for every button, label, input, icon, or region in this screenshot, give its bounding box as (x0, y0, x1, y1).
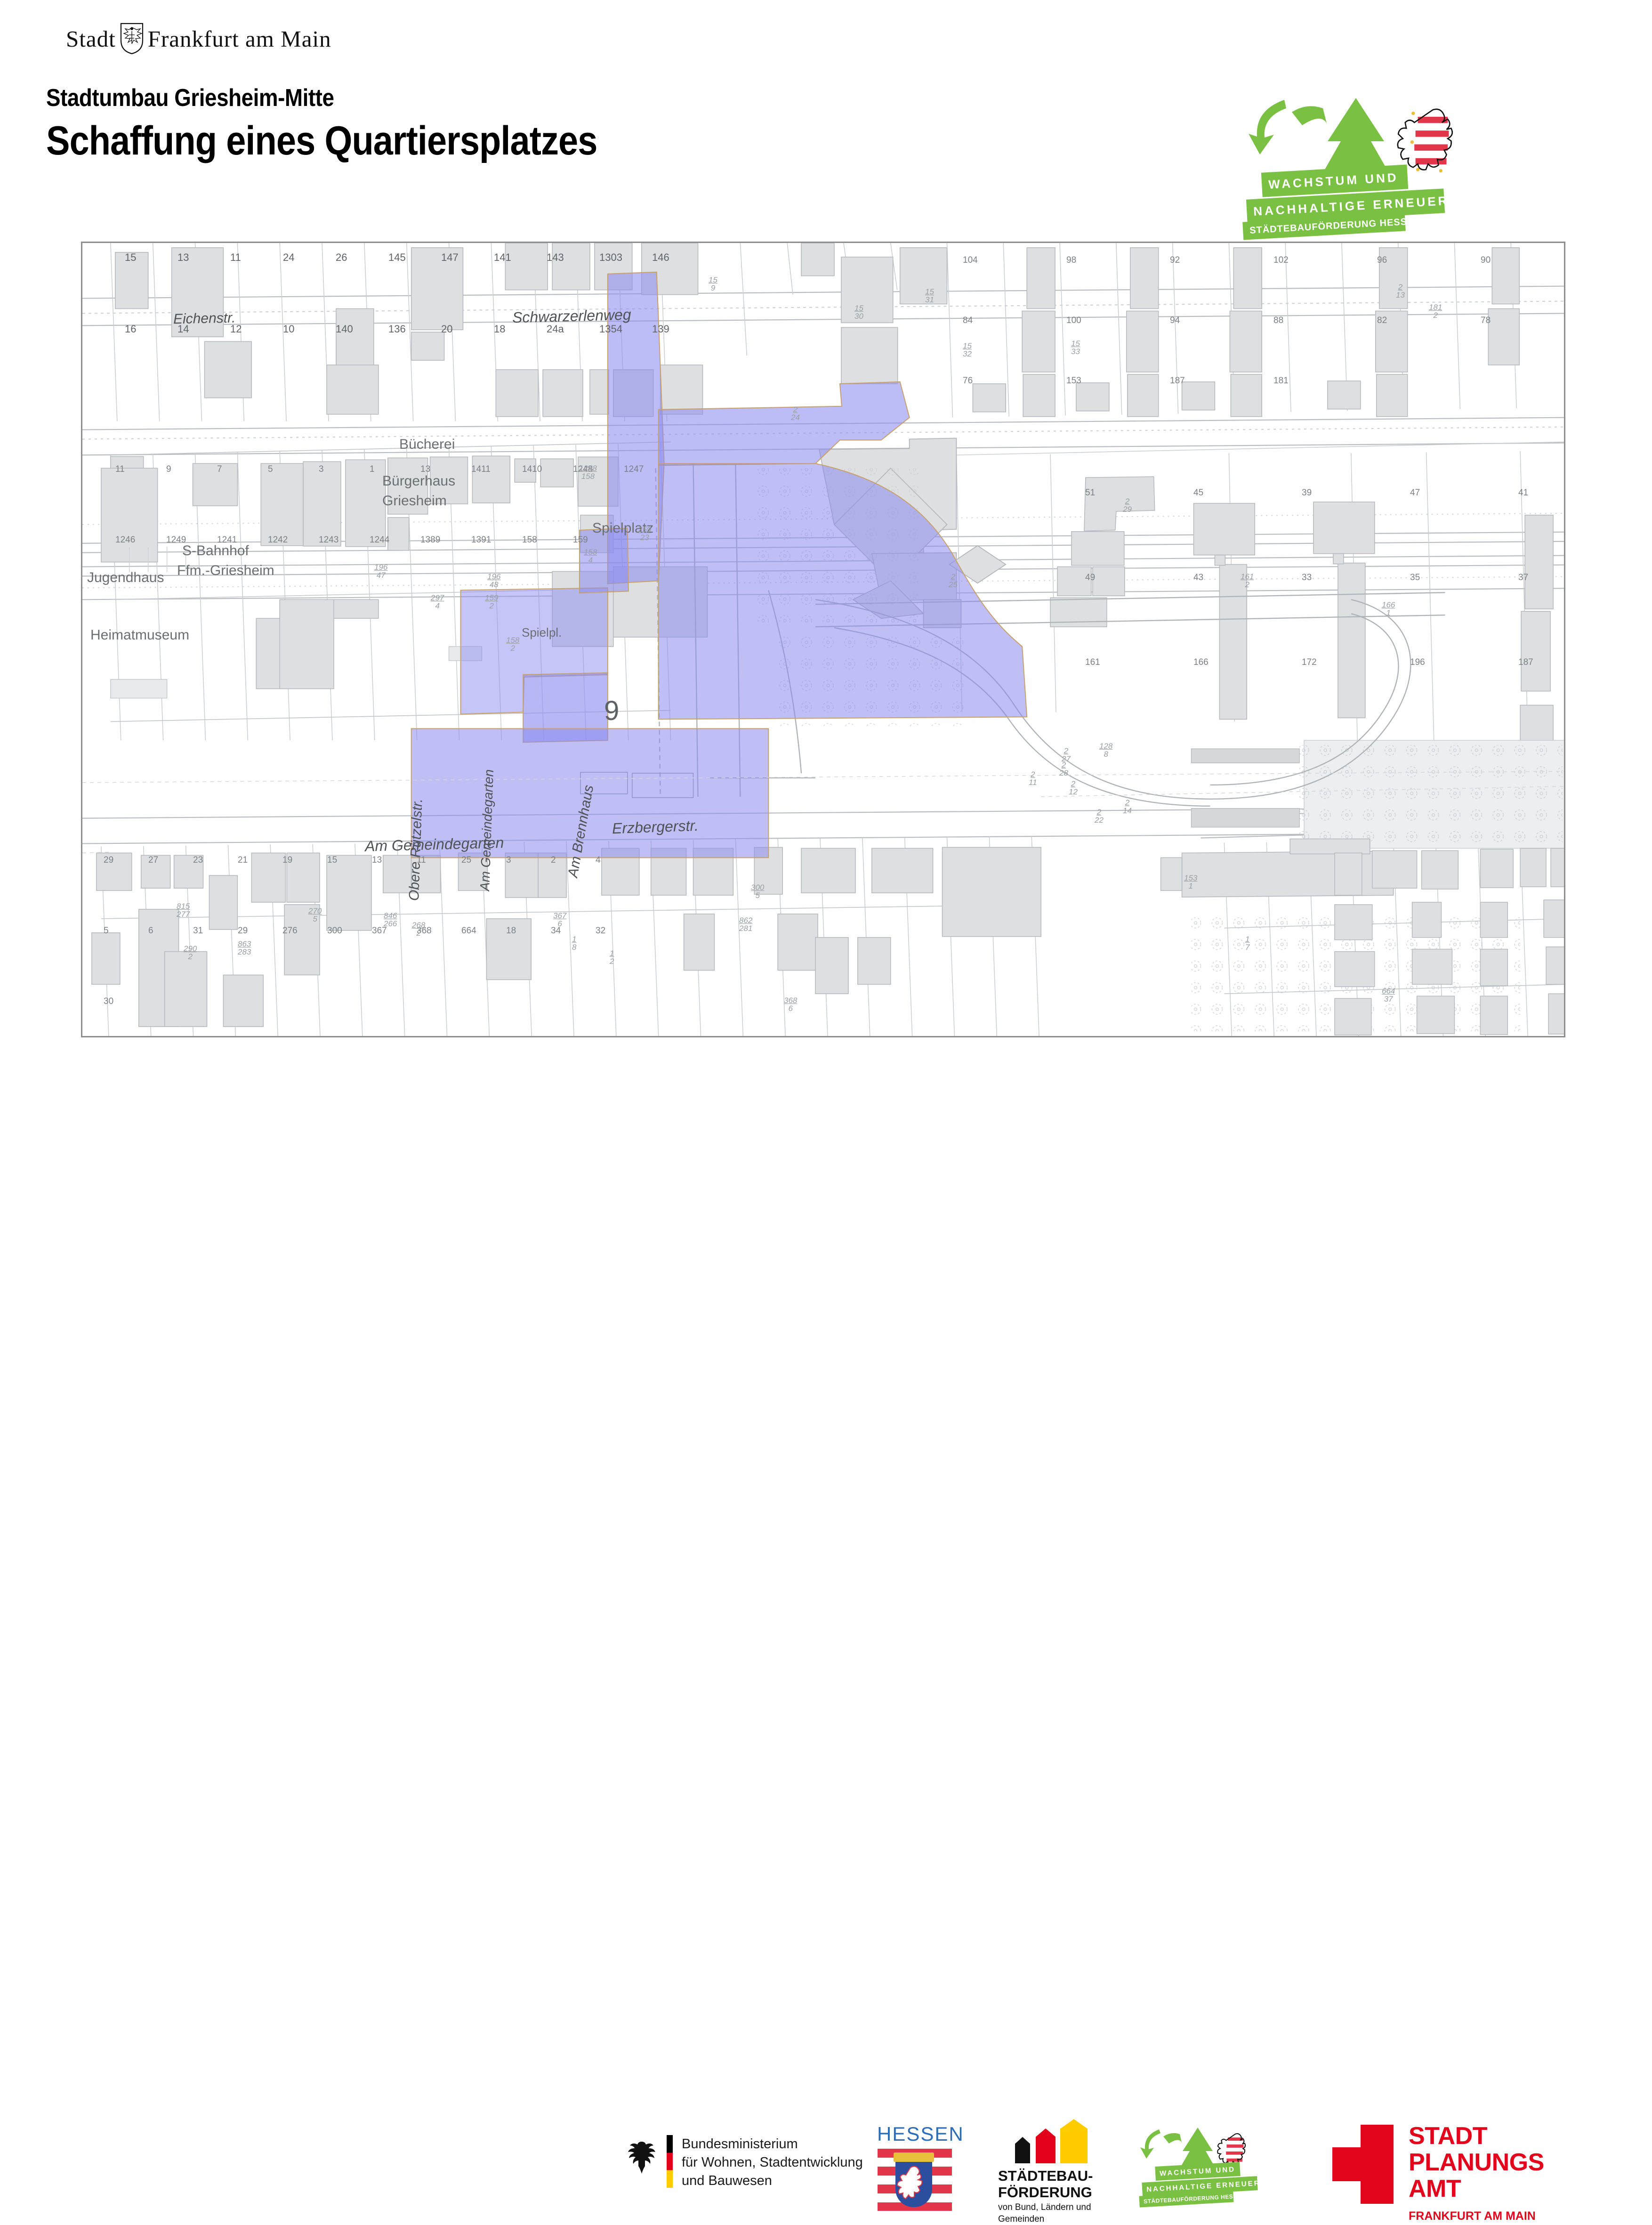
house-black-icon (1015, 2137, 1030, 2163)
parcel-number: 18 (494, 323, 505, 335)
project-subtitle: Stadtumbau Griesheim-Mitte (46, 84, 597, 112)
parcel-fraction: 1812 (1429, 303, 1442, 320)
parcel-number: 51 (1085, 488, 1095, 498)
parcel-fraction: 222 (1095, 808, 1104, 825)
parcel-number: 146 (652, 251, 669, 264)
parcel-number: 33 (1302, 573, 1312, 583)
bmwsb-line-2: für Wohnen, Stadtentwicklung (682, 2153, 863, 2172)
title-block: Stadtumbau Griesheim-Mitte Schaffung ein… (46, 84, 672, 164)
house-yellow-icon (1060, 2119, 1088, 2163)
parcel-number: 15 (125, 251, 136, 264)
parcel-fraction: 1584 (584, 548, 597, 565)
parcel-fraction: 25923 (638, 526, 651, 542)
parcel-number: 16 (125, 323, 136, 335)
parcel-fraction: 19648 (487, 573, 500, 589)
stadtplanungsamt-mark-icon (1332, 2125, 1394, 2204)
parcel-fraction: 19647 (374, 563, 387, 580)
parcel-fraction: 1530 (854, 304, 863, 321)
parcel-number: 13 (420, 464, 430, 475)
spa-line-3: AMT (1409, 2176, 1544, 2202)
hessen-lion-icon (1398, 109, 1452, 172)
parcel-number: 6 (148, 926, 153, 936)
spa-line-1: STADT (1409, 2123, 1544, 2149)
cadastral-map[interactable]: Eichenstr. Schwarzerlenweg Erzbergerstr.… (81, 242, 1565, 1037)
parcel-number: 30 (104, 996, 113, 1007)
parcel-number: 143 (547, 251, 564, 264)
parcel-number: 26 (336, 251, 347, 264)
parcel-number: 3 (506, 855, 511, 866)
parcel-number: 139 (652, 323, 669, 335)
parcel-fraction: 815277 (177, 902, 190, 919)
parcel-number: 35 (1410, 573, 1420, 583)
parcel-number: 31 (193, 926, 203, 936)
page-header: Stadt Frankfurt am Main Stadtumbau Gries… (0, 0, 1652, 221)
parcel-number: 145 (388, 251, 406, 264)
parcel-fraction: 2974 (431, 594, 444, 610)
parcel-number: 172 (1302, 657, 1317, 668)
stbf-subtitle: von Bund, Ländern und Gemeinden (998, 2202, 1091, 2225)
parcel-number: 14 (177, 323, 189, 335)
parcel-fraction: 18 (572, 935, 576, 952)
parcel-fraction: 2682 (412, 921, 425, 938)
parcel-number: 7 (217, 464, 222, 475)
parcel-fraction: 1531 (1184, 874, 1197, 890)
parcel-number: 159 (573, 535, 588, 545)
parcel-number: 11 (115, 464, 125, 475)
parcel-number: 664 (461, 926, 476, 936)
hessen-crown-icon (894, 2152, 934, 2162)
parcel-number: 1241 (217, 535, 237, 545)
parcel-number: 90 (1481, 255, 1491, 266)
stbf-title: STÄDTEBAU- FÖRDERUNG (998, 2168, 1093, 2201)
parcel-fraction: 17 (1245, 935, 1249, 952)
parcel-number: 24 (283, 251, 294, 264)
parcel-number: 41 (1518, 488, 1528, 498)
parcel-fraction: 212 (1069, 780, 1078, 796)
parcel-fraction: 3686 (784, 996, 797, 1013)
bundesadler-icon (626, 2139, 657, 2176)
parcel-fraction: 1661 (1382, 601, 1395, 617)
parcel-number: 11 (230, 251, 241, 264)
parcel-fraction: 3005 (751, 883, 764, 900)
parcel-number: 1411 (471, 464, 491, 475)
parcel-fraction: 224 (791, 405, 800, 422)
spa-line-2: PLANUNGS (1409, 2149, 1544, 2176)
hessen-logo: HESSEN (877, 2123, 952, 2205)
map-marker-nine: 9 (604, 695, 619, 727)
parcel-number: 45 (1193, 488, 1203, 498)
parcel-number: 136 (388, 323, 406, 335)
parcel-fraction: 12 (610, 949, 614, 966)
parcel-number: 4 (596, 855, 601, 866)
recycle-arrow-icon (1249, 100, 1327, 154)
parcel-fraction: 229 (1123, 497, 1132, 514)
hessen-shield-icon (895, 2156, 932, 2207)
bmwsb-line-3: und Bauwesen (682, 2172, 863, 2190)
parcel-fraction: 2902 (184, 945, 197, 961)
parcel-number: 15 (327, 855, 337, 866)
parcel-fraction: 211 (1029, 770, 1037, 787)
parcel-number: 10 (283, 323, 294, 335)
parcel-number: 187 (1170, 376, 1185, 386)
parcel-fraction: 228 (1059, 761, 1068, 777)
stbf-line-2: FÖRDERUNG (998, 2185, 1093, 2201)
poi-buergerhaus-griesheim: Griesheim (382, 493, 447, 509)
parcel-number: 5 (104, 926, 109, 936)
parcel-number: 96 (1377, 255, 1387, 266)
stbf-line-1: STÄDTEBAU- (998, 2168, 1093, 2185)
parcel-fraction: 863283 (238, 940, 251, 956)
stbf-sub-2: Gemeinden (998, 2214, 1091, 2225)
bmwsb-line-1: Bundesministerium (682, 2135, 863, 2153)
poi-ffm-griesheim: Ffm.-Griesheim (177, 563, 274, 579)
parcel-number: 153 (1066, 376, 1081, 386)
parcel-number: 1410 (522, 464, 542, 475)
parcel-number: 29 (238, 926, 248, 936)
parcel-number: 181 (1273, 376, 1289, 386)
parcel-number: 1303 (599, 251, 622, 264)
page-footer: Bundesministerium für Wohnen, Stadtentwi… (0, 1055, 1652, 1168)
parcel-number: 24a (547, 323, 564, 335)
parcel-number: 43 (1193, 573, 1203, 583)
parcel-fraction: 1533 (1071, 340, 1080, 356)
parcel-number: 25 (461, 855, 471, 866)
parcel-number: 166 (1193, 657, 1209, 668)
parcel-number: 18 (506, 926, 516, 936)
parcel-number: 102 (1273, 255, 1289, 266)
parcel-number: 158 (522, 535, 537, 545)
parcel-number: 1391 (471, 535, 491, 545)
parcel-number: 276 (282, 926, 298, 936)
parcel-number: 104 (963, 255, 978, 266)
wachstum-und-nachhaltige-erneuerung-logo: WACHSTUM UND NACHHALTIGE ERNEUERUNG STÄD… (1243, 89, 1535, 235)
city-logo-right-text: Frankfurt am Main (148, 25, 331, 52)
parcel-number: 1242 (268, 535, 288, 545)
bmwsb-text: Bundesministerium für Wohnen, Stadtentwi… (682, 2135, 863, 2190)
parcel-number: 76 (963, 376, 973, 386)
city-logo-left-text: Stadt (66, 25, 116, 52)
parcel-number: 47 (1410, 488, 1420, 498)
spa-subtitle: FRANKFURT AM MAIN (1409, 2209, 1544, 2223)
parcel-number: 11 (417, 855, 426, 866)
recycle-arrow-icon-small (1140, 2129, 1182, 2159)
parcel-number: 140 (336, 323, 353, 335)
parcel-fraction: 1612 (1241, 573, 1254, 589)
parcel-number: 32 (596, 926, 605, 936)
street-label-erzbergerstr: Erzbergerstr. (612, 817, 699, 837)
parcel-number: 29 (104, 855, 113, 866)
hessen-flag-icon (877, 2148, 952, 2211)
parcel-number: 88 (1273, 316, 1283, 326)
parcel-fraction: 3676 (553, 912, 566, 928)
parcel-fraction: 2705 (308, 907, 322, 923)
parcel-number: 13 (372, 855, 382, 866)
hessen-lion-icon-small (1217, 2134, 1245, 2164)
parcel-number: 13 (177, 251, 189, 264)
parcel-number: 98 (1066, 255, 1076, 266)
poi-heimatmuseum: Heimatmuseum (90, 627, 189, 643)
three-houses-icon (1015, 2123, 1109, 2163)
parcel-number: 3 (319, 464, 324, 475)
parcel-fraction: 213 (1396, 283, 1405, 299)
parcel-number: 12 (230, 323, 242, 335)
poi-buecherei: Bücherei (399, 437, 455, 453)
parcel-number: 100 (1066, 316, 1081, 326)
hessen-wordmark: HESSEN (877, 2123, 952, 2145)
parcel-fraction: 846266 (384, 912, 397, 928)
parcel-number: 27 (148, 855, 158, 866)
parcel-number: 1 (370, 464, 375, 475)
parcel-number: 84 (963, 316, 973, 326)
parcel-number: 21 (238, 855, 248, 866)
parcel-number: 9 (166, 464, 171, 475)
parcel-number: 2 (551, 855, 556, 866)
poi-spielpl: Spielpl. (522, 625, 562, 640)
poi-buergerhaus: Bürgerhaus (382, 473, 455, 489)
stbf-sub-1: von Bund, Ländern und (998, 2202, 1091, 2214)
parcel-number: 20 (441, 323, 452, 335)
wne-logo-small: WACHSTUM UND NACHHALTIGE ERNEUERUNG STÄD… (1139, 2124, 1290, 2209)
bmwsb-logo: Bundesministerium für Wohnen, Stadtentwi… (626, 2128, 880, 2194)
frankfurt-eagle-crest-icon (120, 23, 144, 55)
parcel-number: 1389 (420, 535, 440, 545)
parcel-number: 92 (1170, 255, 1180, 266)
parcel-fraction: 1288 (1099, 742, 1112, 759)
parcel-fraction: 1582 (506, 636, 519, 653)
parcel-fraction: 1248158 (579, 464, 597, 481)
map-vector-layer (82, 243, 1564, 1036)
spa-text: STADT PLANUNGS AMT FRANKFURT AM MAIN (1409, 2123, 1544, 2223)
poi-s-bahnhof: S-Bahnhof (182, 543, 249, 559)
parcel-number: 141 (494, 251, 511, 264)
parcel-number: 5 (268, 464, 273, 475)
house-red-icon (1036, 2128, 1056, 2163)
parcel-fraction: 1532 (963, 342, 972, 358)
parcel-number: 187 (1518, 657, 1533, 668)
parcel-fraction: 214 (1123, 799, 1132, 815)
parcel-fraction: 159 (709, 276, 717, 292)
parcel-fraction: 225 (949, 573, 958, 589)
parcel-number: 300 (327, 926, 342, 936)
parcel-number: 1354 (599, 323, 622, 335)
parcel-number: 82 (1377, 316, 1387, 326)
parcel-number: 1243 (319, 535, 338, 545)
parcel-fraction: 862281 (739, 916, 752, 933)
parcel-fraction: 1531 (925, 288, 934, 304)
parcel-number: 78 (1481, 316, 1491, 326)
stadtplanungsamt-logo: STADT PLANUNGS AMT FRANKFURT AM MAIN (1332, 2123, 1577, 2208)
parcel-number: 49 (1085, 573, 1095, 583)
page-title: Schaffung eines Quartiersplatzes (46, 118, 597, 164)
parcel-number: 1246 (115, 535, 135, 545)
parcel-number: 147 (441, 251, 459, 264)
city-of-frankfurt-logo: Stadt Frankfurt am Main (66, 22, 367, 56)
parcel-number: 161 (1085, 657, 1100, 668)
parcel-number: 37 (1518, 573, 1528, 583)
parcel-number: 19 (282, 855, 292, 866)
poi-jugendhaus: Jugendhaus (87, 570, 164, 586)
parcel-number: 1247 (624, 464, 644, 475)
german-flag-bar-icon (667, 2135, 673, 2188)
staedtebaufoerderung-logo: STÄDTEBAU- FÖRDERUNG von Bund, Ländern u… (998, 2123, 1139, 2208)
parcel-number: 1244 (370, 535, 389, 545)
parcel-number: 196 (1410, 657, 1425, 668)
parcel-number: 39 (1302, 488, 1312, 498)
parcel-fraction: 66437 (1382, 987, 1395, 1003)
parcel-number: 94 (1170, 316, 1180, 326)
parcel-number: 1249 (166, 535, 186, 545)
parcel-fraction: 1592 (485, 594, 498, 610)
parcel-number: 23 (193, 855, 203, 866)
